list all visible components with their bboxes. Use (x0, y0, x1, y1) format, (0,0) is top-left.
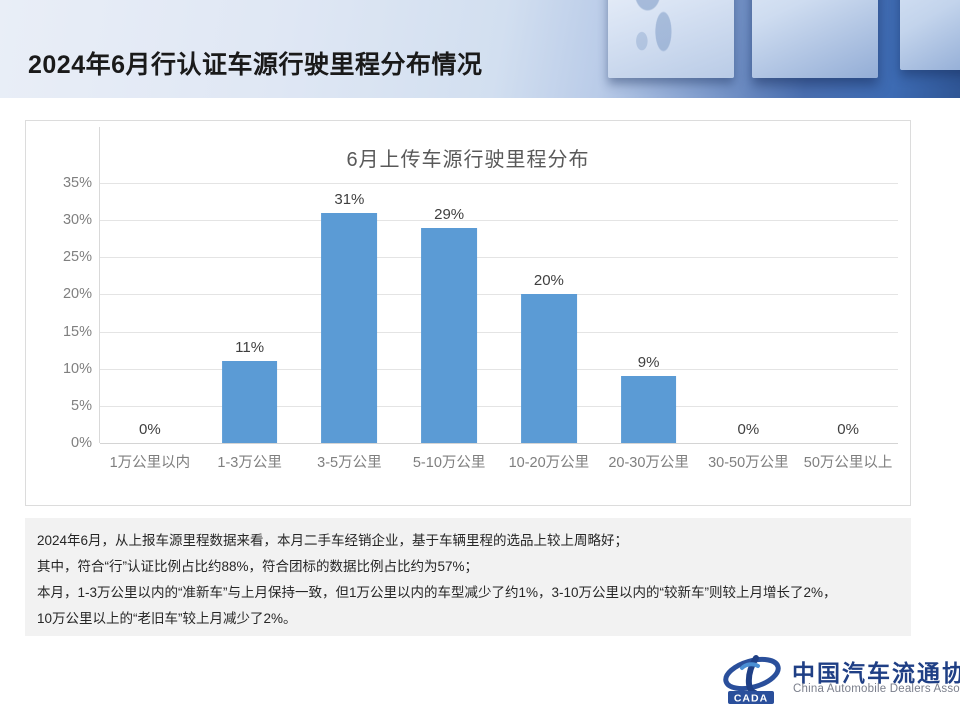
x-axis-tick-label: 20-30万公里 (599, 451, 699, 472)
y-axis-tick-label: 20% (63, 286, 92, 302)
cada-emblem-icon: CADA (722, 654, 784, 706)
page-header: 2024年6月行认证车源行驶里程分布情况 (0, 0, 960, 98)
chart-plot: 0%5%10%15%20%25%30%35% 0%11%31%29%20%9%0… (26, 183, 912, 503)
y-axis-tick-label: 35% (63, 175, 92, 191)
bar-slot[interactable]: 31% (300, 183, 400, 443)
footer-logo: CADA 中国汽车流通协会 China Automobile Dealers A… (722, 652, 946, 708)
x-axis-tick-label: 1-3万公里 (200, 451, 300, 472)
chart-card: 6月上传车源行驶里程分布 0%5%10%15%20%25%30%35% 0%11… (25, 120, 911, 506)
y-axis-tick-label: 15% (63, 324, 92, 340)
note-line: 其中，符合“行”认证比例占比约88%，符合团标的数据比例占比约为57%； (37, 554, 899, 580)
plot-area: 0%11%31%29%20%9%0%0% (100, 183, 898, 443)
bar-slot[interactable]: 29% (399, 183, 499, 443)
bar[interactable] (521, 294, 577, 443)
bar-slot[interactable]: 0% (699, 183, 799, 443)
y-axis-tick-label: 5% (71, 398, 92, 414)
bar-series: 0%11%31%29%20%9%0%0% (100, 183, 898, 443)
gridline (100, 443, 898, 444)
bar-value-label: 20% (534, 272, 564, 289)
y-axis-tick-label: 0% (71, 435, 92, 451)
page-title: 2024年6月行认证车源行驶里程分布情况 (28, 45, 483, 81)
bar-value-label: 29% (434, 206, 464, 223)
bar-value-label: 31% (334, 191, 364, 208)
x-axis-tick-label: 3-5万公里 (300, 451, 400, 472)
bar[interactable] (222, 361, 278, 443)
bar-slot[interactable]: 0% (100, 183, 200, 443)
bar-value-label: 9% (638, 354, 660, 371)
org-name-en: China Automobile Dealers Association (793, 683, 960, 695)
decorative-cube-left-icon (608, 0, 734, 78)
y-axis-tick-label: 30% (63, 212, 92, 228)
note-line: 2024年6月，从上报车源里程数据来看，本月二手车经销企业，基于车辆里程的选品上… (37, 528, 899, 554)
bar[interactable] (421, 228, 477, 443)
bar[interactable] (321, 213, 377, 443)
x-axis-tick-label: 50万公里以上 (798, 451, 898, 472)
y-axis-tick-label: 10% (63, 361, 92, 377)
y-axis-tick-labels: 0%5%10%15%20%25%30%35% (34, 183, 92, 443)
note-line: 10万公里以上的“老旧车”较上月减少了2%。 (37, 606, 899, 632)
bar-slot[interactable]: 0% (798, 183, 898, 443)
bar-value-label: 0% (837, 421, 859, 438)
note-line: 本月，1-3万公里以内的“准新车”与上月保持一致，但1万公里以内的车型减少了约1… (37, 580, 899, 606)
bar-slot[interactable]: 20% (499, 183, 599, 443)
y-axis-tick-label: 25% (63, 249, 92, 265)
x-axis-tick-label: 10-20万公里 (499, 451, 599, 472)
bar-value-label: 0% (139, 421, 161, 438)
svg-text:CADA: CADA (734, 693, 768, 705)
x-axis-tick-labels: 1万公里以内1-3万公里3-5万公里5-10万公里10-20万公里20-30万公… (100, 451, 898, 472)
notes-block: 2024年6月，从上报车源里程数据来看，本月二手车经销企业，基于车辆里程的选品上… (25, 518, 911, 636)
decorative-cube-center-icon (752, 0, 878, 78)
bar-slot[interactable]: 9% (599, 183, 699, 443)
x-axis-tick-label: 30-50万公里 (699, 451, 799, 472)
bar-slot[interactable]: 11% (200, 183, 300, 443)
x-axis-tick-label: 1万公里以内 (100, 451, 200, 472)
header-decoration-cubes-icon (600, 0, 960, 98)
bar-value-label: 11% (235, 339, 264, 356)
bar-value-label: 0% (738, 421, 760, 438)
chart-title: 6月上传车源行驶里程分布 (26, 143, 910, 172)
bar[interactable] (621, 376, 677, 443)
decorative-cube-right-icon (900, 0, 960, 70)
x-axis-tick-label: 5-10万公里 (399, 451, 499, 472)
